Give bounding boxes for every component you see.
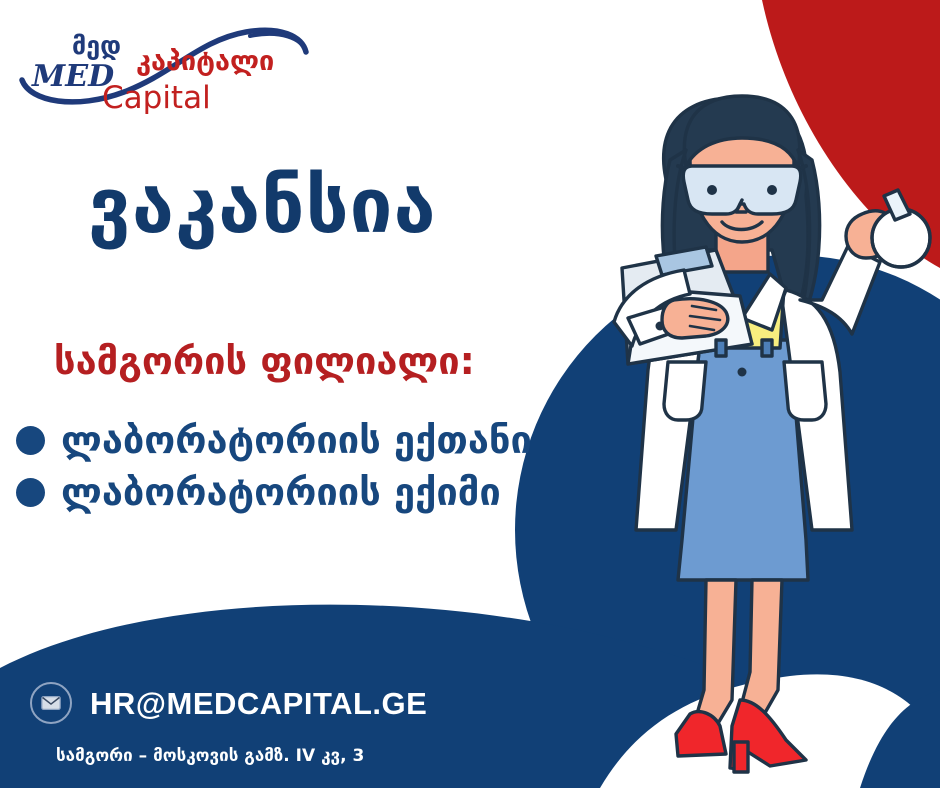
goggles-right-lens-dot: [767, 185, 777, 195]
list-item: ლაბორატორიის ექიმი: [16, 466, 532, 518]
flask-bubble-1: [907, 234, 915, 242]
coat-pocket-right: [784, 362, 826, 420]
coat-pocket-left: [664, 362, 706, 420]
vacancy-label: ლაბორატორიის ექთანი: [61, 421, 532, 459]
envelope-icon: [30, 682, 72, 724]
branch-subheading: სამგორის ფილიალი:: [54, 342, 475, 380]
logo-latin-capital: Capital: [102, 80, 211, 114]
shirt-button-2: [738, 368, 747, 377]
logo-georgian-med: მედ: [72, 31, 121, 60]
shoe-right-heel: [734, 742, 748, 772]
list-item: ლაბორატორიის ექთანი: [16, 414, 532, 466]
hand-left: [662, 299, 728, 338]
skirt-tab-right: [762, 340, 772, 356]
logo-georgian-capital: კაპიტალი: [136, 46, 274, 77]
email-address[interactable]: HR@MEDCAPITAL.GE: [90, 688, 427, 719]
bullet-dot-icon: [16, 426, 45, 455]
bullet-dot-icon: [16, 478, 45, 507]
skirt-tab-left: [716, 340, 726, 356]
address-line: სამგორი – მოსკოვის გამზ. IV კვ, 3: [56, 748, 364, 765]
vacancy-label: ლაბორატორიის ექიმი: [61, 473, 501, 511]
contact-row[interactable]: HR@MEDCAPITAL.GE: [30, 682, 427, 724]
flask-bubble-2: [915, 249, 921, 255]
leg-right: [740, 580, 782, 718]
med-capital-logo[interactable]: მედ MED კაპიტალი Capital: [14, 18, 314, 114]
poster-canvas: მედ MED კაპიტალი Capital ვაკანსია სამგორ…: [0, 0, 940, 788]
page-title: ვაკანსია: [88, 168, 437, 244]
vacancy-list: ლაბორატორიის ექთანი ლაბორატორიის ექიმი: [16, 414, 532, 518]
lab-scientist-illustration: [0, 0, 940, 788]
goggles-left-lens-dot: [707, 185, 717, 195]
leg-left: [694, 580, 736, 730]
